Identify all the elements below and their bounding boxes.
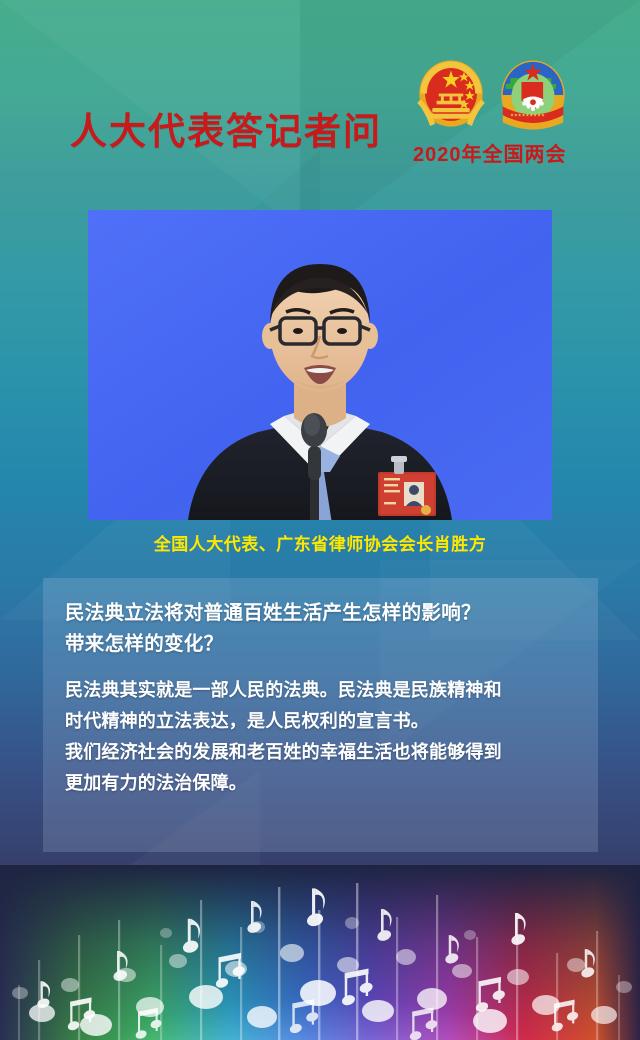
svg-text:★★★★★★★★★: ★★★★★★★★★ xyxy=(510,113,545,118)
national-emblem-prc-icon xyxy=(415,56,487,134)
question-text: 民法典立法将对普通百姓生活产生怎样的影响？ 带来怎样的变化？ xyxy=(65,598,578,660)
answer-line-2: 时代精神的立法表达，是人民权利的宣言书。 xyxy=(65,706,578,737)
speaker-portrait-illustration xyxy=(88,210,552,520)
content-panel: 民法典立法将对普通百姓生活产生怎样的影响？ 带来怎样的变化？ 民法典其实就是一部… xyxy=(43,578,598,852)
music-notes-graphic xyxy=(0,865,640,1040)
emblem-group: ★★★★★★★★★ xyxy=(415,56,580,134)
event-subtitle: 2020年全国两会 xyxy=(413,138,567,167)
answer-line-4: 更加有力的法治保障。 xyxy=(65,768,578,799)
cppcc-emblem-icon: ★★★★★★★★★ xyxy=(497,56,569,134)
poster-root: 人大代表答记者问 xyxy=(0,0,640,1040)
music-notes-banner xyxy=(0,865,640,1040)
answer-text: 民法典其实就是一部人民的法典。民法典是民族精神和 时代精神的立法表达，是人民权利… xyxy=(65,675,578,799)
answer-line-1: 民法典其实就是一部人民的法典。民法典是民族精神和 xyxy=(65,675,578,706)
page-title: 人大代表答记者问 xyxy=(70,113,382,150)
speaker-photo xyxy=(88,210,552,520)
question-line-2: 带来怎样的变化？ xyxy=(65,629,578,660)
photo-caption: 全国人大代表、广东省律师协会会长肖胜方 xyxy=(0,530,640,555)
answer-line-3: 我们经济社会的发展和老百姓的幸福生活也将能够得到 xyxy=(65,737,578,768)
question-line-1: 民法典立法将对普通百姓生活产生怎样的影响？ xyxy=(65,598,578,629)
